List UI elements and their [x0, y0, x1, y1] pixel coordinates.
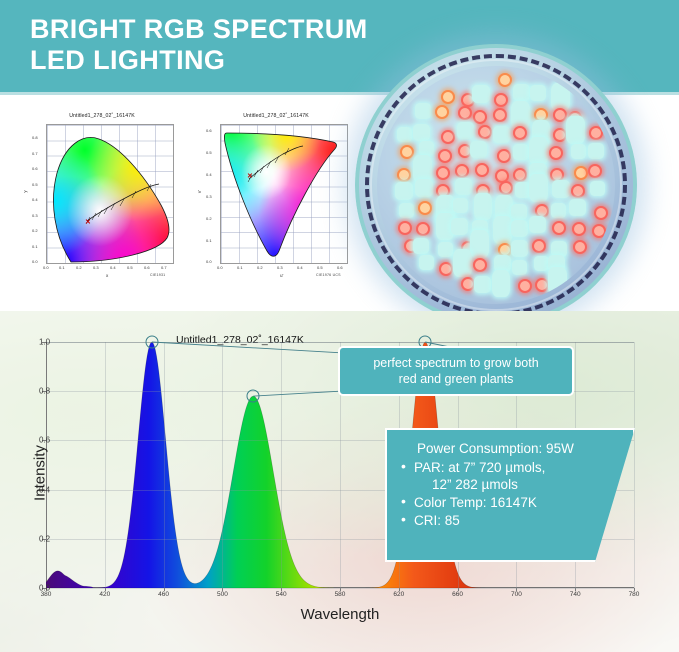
led-red: [494, 93, 508, 107]
cie-1976-xlabel: u': [280, 273, 283, 278]
led-red: [571, 184, 585, 198]
led-cyan: [457, 122, 474, 139]
y-tick-label: 0.6: [39, 436, 40, 445]
cie-1931-ytick-1: 0.1: [32, 244, 38, 249]
led-red: [532, 239, 546, 253]
led-red: [497, 149, 511, 163]
led-red: [573, 240, 587, 254]
led-red: [398, 221, 412, 235]
led-cyan: [529, 216, 546, 233]
x-tick-label: 700: [511, 591, 522, 598]
led-red: [572, 222, 586, 236]
x-tick-label: 580: [335, 591, 346, 598]
cie-1931-xtick-7: 0.7: [161, 265, 167, 270]
led-red: [535, 278, 549, 292]
led-cyan: [513, 144, 529, 160]
led-red: [441, 130, 455, 144]
cie-1976-ytick-4: 0.4: [206, 172, 212, 177]
rgb-led-grow-light-image: [355, 44, 637, 326]
led-orange: [418, 201, 432, 215]
x-tick-label: 780: [629, 591, 640, 598]
cie-1931-xtick-1: 0.1: [59, 265, 65, 270]
led-red: [588, 164, 602, 178]
cie-1931-ytick-4: 0.4: [32, 197, 38, 202]
led-orange: [435, 105, 449, 119]
blue-peak-marker: [145, 336, 158, 349]
led-orange: [498, 73, 512, 87]
led-red: [436, 166, 450, 180]
led-cyan: [493, 126, 510, 143]
led-cyan: [413, 238, 429, 254]
led-orange: [574, 166, 588, 180]
led-red: [549, 146, 563, 160]
cie-1931-ytick-3: 0.3: [32, 213, 38, 218]
led-orange: [441, 90, 455, 104]
cie-1976-ytick-5: 0.5: [206, 150, 212, 155]
led-cyan: [474, 276, 491, 293]
spec-power: Power Consumption: 95W: [417, 440, 623, 457]
led-cyan: [529, 137, 548, 165]
led-red: [438, 149, 452, 163]
cie-1976-ytick-3: 0.3: [206, 194, 212, 199]
x-gridline: [634, 342, 635, 588]
cie-1931-plot: ✕: [46, 124, 174, 264]
green-peak-marker: [247, 390, 260, 403]
cie-1931-xtick-0: 0.0: [43, 265, 49, 270]
led-cyan: [551, 83, 570, 111]
cie-1931-ytick-5: 0.5: [32, 182, 38, 187]
cie-1931-white-point-marker: ✕: [85, 219, 91, 226]
led-cyan: [588, 143, 604, 159]
spec-par-line2: 12” 282 µmols: [432, 476, 518, 493]
led-cyan: [415, 103, 431, 119]
led-cyan: [397, 127, 412, 142]
cie-1976-ytick-1: 0.1: [206, 238, 212, 243]
cie-1931-xtick-2: 0.2: [76, 265, 82, 270]
led-red: [552, 221, 566, 235]
led-cyan: [566, 116, 585, 144]
spec-par-line1: PAR: at 7” 720 µmols,: [414, 460, 545, 475]
y-gridline: [46, 588, 634, 589]
led-cyan: [534, 256, 549, 271]
spec-par: PAR: at 7” 720 µmols, 12” 282 µmols: [401, 459, 623, 493]
led-red: [439, 262, 453, 276]
led-cyan: [395, 182, 413, 200]
led-cyan: [511, 204, 527, 220]
led-red: [493, 108, 507, 122]
led-red: [455, 164, 469, 178]
led-red: [458, 106, 472, 120]
led-cyan: [548, 267, 567, 295]
cie-1976-xtick-5: 0.5: [317, 265, 323, 270]
cie-1931-title: Untitled1_278_02˚_16147K: [22, 113, 182, 119]
led-cyan: [438, 242, 453, 257]
cie-1931-corner-label: CIE1931: [150, 273, 165, 277]
led-orange: [400, 145, 414, 159]
led-red: [592, 224, 606, 238]
led-cyan: [530, 85, 546, 101]
led-red: [475, 163, 489, 177]
spec-cri: CRI: 85: [401, 512, 623, 529]
x-gridline: [281, 342, 282, 588]
x-axis-label: Wavelength: [301, 606, 380, 623]
cie-1931-ytick-6: 0.6: [32, 166, 38, 171]
y-axis-label: Intensity: [31, 445, 48, 501]
cie-1976-xtick-2: 0.2: [257, 265, 263, 270]
x-tick-label: 420: [99, 591, 110, 598]
led-red: [473, 258, 487, 272]
x-gridline: [222, 342, 223, 588]
x-gridline: [105, 342, 106, 588]
led-cyan: [470, 230, 489, 258]
cie-1976-plot: ✕: [220, 124, 348, 264]
led-red: [473, 110, 487, 124]
cie-1931-xtick-3: 0.3: [93, 265, 99, 270]
cie-1931-ytick-7: 0.7: [32, 151, 38, 156]
cie-1931-xlabel: x: [106, 273, 108, 278]
led-cyan: [399, 203, 414, 218]
spec-list: PAR: at 7” 720 µmols, 12” 282 µmols Colo…: [401, 459, 623, 529]
cie-1976-ytick-2: 0.2: [206, 216, 212, 221]
y-tick-label: 0.2: [39, 534, 40, 543]
cie-1976-xtick-6: 0.6: [337, 265, 343, 270]
led-cyan: [474, 193, 492, 220]
led-red: [499, 181, 513, 195]
cie-1976-xtick-0: 0.0: [217, 265, 223, 270]
x-tick-label: 460: [158, 591, 169, 598]
cie-1931-diagram: Untitled1_278_02˚_16147K: [22, 113, 182, 283]
led-red: [589, 126, 603, 140]
x-gridline: [164, 342, 165, 588]
x-tick-label: 620: [393, 591, 404, 598]
led-red: [416, 222, 430, 236]
lamp-led-array: [377, 66, 615, 304]
led-cyan: [419, 141, 434, 156]
led-cyan: [451, 218, 468, 235]
x-tick-label: 740: [570, 591, 581, 598]
cie-1976-white-point-marker: ✕: [247, 173, 253, 180]
cie-1976-diagram: Untitled1_278_02˚_16147K: [196, 113, 356, 283]
led-red: [553, 108, 567, 122]
led-cyan: [529, 174, 548, 202]
led-cyan: [470, 141, 487, 158]
led-cyan: [571, 144, 586, 159]
led-cyan: [511, 240, 528, 257]
led-cyan: [492, 270, 510, 297]
led-red: [553, 128, 567, 142]
led-cyan: [590, 181, 605, 196]
led-red: [478, 125, 492, 139]
led-red: [513, 168, 527, 182]
y-tick-label: 0.0: [39, 584, 40, 593]
led-cyan: [513, 84, 530, 101]
cie-1931-gamut: [47, 125, 173, 263]
cie-1931-xtick-4: 0.4: [110, 265, 116, 270]
cie-1931-ytick-2: 0.2: [32, 228, 38, 233]
cie-1976-xtick-1: 0.1: [237, 265, 243, 270]
x-tick-label: 540: [276, 591, 287, 598]
led-cyan: [453, 198, 468, 213]
cie-1976-title: Untitled1_278_02˚_16147K: [196, 113, 356, 119]
led-cyan: [472, 85, 490, 103]
cie-1976-corner-label: CIE1976 UCS: [316, 273, 341, 277]
led-cyan: [455, 178, 472, 195]
lamp-body: [355, 44, 637, 326]
led-cyan: [413, 124, 430, 141]
infographic-canvas: BRIGHT RGB SPECTRUM LED LIGHTING Untitle…: [0, 0, 679, 652]
led-cyan: [512, 260, 527, 275]
led-red: [513, 126, 527, 140]
y-gridline: [46, 342, 634, 343]
led-orange: [397, 168, 411, 182]
cie-1931-ytick-0: 0.0: [32, 259, 38, 264]
cie-1931-xtick-6: 0.6: [144, 265, 150, 270]
y-tick-label: 1.0: [39, 338, 40, 347]
led-cyan: [493, 216, 512, 244]
cie-1931-xtick-5: 0.5: [127, 265, 133, 270]
led-cyan: [419, 255, 434, 270]
led-cyan: [453, 249, 472, 277]
specs-callout: Power Consumption: 95W PAR: at 7” 720 µm…: [385, 428, 635, 562]
spectrum-callout: perfect spectrum to grow both red and gr…: [338, 346, 574, 396]
cie-1976-gamut: [221, 125, 347, 263]
led-cyan: [511, 220, 528, 237]
led-cyan: [551, 203, 566, 218]
cie-1976-xtick-3: 0.3: [277, 265, 283, 270]
cie-1931-ytick-8: 0.8: [32, 135, 38, 140]
cie-1976-ytick-6: 0.6: [206, 128, 212, 133]
led-cyan: [415, 179, 433, 197]
x-tick-label: 500: [217, 591, 228, 598]
led-cyan: [552, 180, 570, 198]
cie-1931-ylabel: y: [23, 190, 28, 192]
x-tick-label: 660: [452, 591, 463, 598]
cie-1976-ytick-0: 0.0: [206, 259, 212, 264]
spec-color-temp: Color Temp: 16147K: [401, 494, 623, 511]
led-red: [594, 206, 608, 220]
led-red: [518, 279, 532, 293]
led-cyan: [569, 199, 586, 216]
led-red: [461, 277, 475, 291]
led-cyan: [511, 101, 530, 129]
cie-1976-ylabel: v': [197, 190, 202, 193]
y-tick-label: 0.8: [39, 387, 40, 396]
cie-1976-xtick-4: 0.4: [297, 265, 303, 270]
